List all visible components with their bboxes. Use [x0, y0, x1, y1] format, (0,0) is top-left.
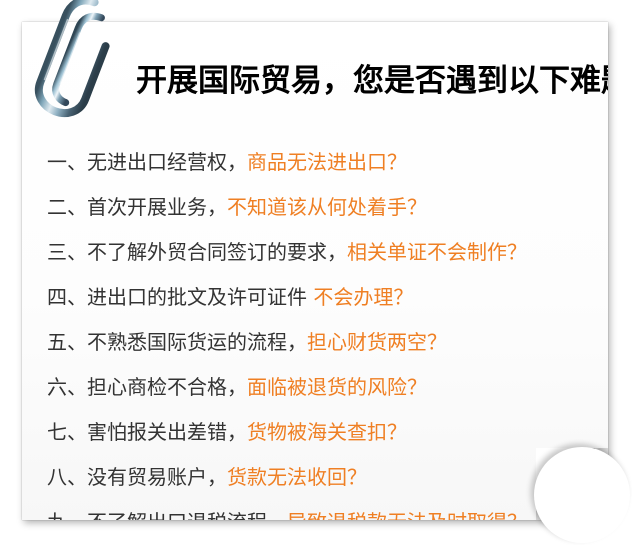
page-title: 开展国际贸易，您是否遇到以下难题: [136, 66, 608, 97]
list-item-index: 七、: [47, 420, 87, 444]
list-item-highlight-text: 担心财货两空？: [307, 330, 447, 354]
list-item-separator: ，: [207, 465, 227, 489]
list-item-separator: ，: [287, 330, 307, 354]
list-item: 二、首次开展业务，不知道该从何处着手？: [47, 185, 607, 230]
list-item-highlight-text: 货物被海关查扣？: [247, 420, 407, 444]
list-item: 五、不熟悉国际货运的流程，担心财货两空？: [47, 320, 607, 365]
list-item-highlight-text: 相关单证不会制作？: [347, 240, 527, 264]
list-item-highlight-text: 不知道该从何处着手？: [227, 195, 427, 219]
list-item-highlight-text: 面临被退货的风险？: [247, 375, 427, 399]
list-item-highlight-text: 导致退税款无法及时取得？: [287, 510, 527, 520]
list-item-index: 六、: [47, 375, 87, 399]
list-item-highlight-text: 商品无法进出口？: [247, 150, 407, 174]
list-item-index: 一、: [47, 150, 87, 174]
list-item-separator: ，: [327, 240, 347, 264]
content-card: 开展国际贸易，您是否遇到以下难题 一、无进出口经营权，商品无法进出口？二、首次开…: [22, 22, 608, 520]
list-item: 八、没有贸易账户，货款无法收回？: [47, 455, 607, 500]
list-item-separator: ，: [227, 375, 247, 399]
list-item-lead-text: 不了解出口退税流程: [87, 510, 267, 520]
list-item-index: 三、: [47, 240, 87, 264]
list-item-lead-text: 没有贸易账户: [87, 465, 207, 489]
list-item-lead-text: 无进出口经营权: [87, 150, 227, 174]
problem-list: 一、无进出口经营权，商品无法进出口？二、首次开展业务，不知道该从何处着手？三、不…: [47, 140, 607, 520]
list-item-lead-text: 进出口的批文及许可证件: [87, 285, 307, 309]
list-item-lead-text: 不熟悉国际货运的流程: [87, 330, 287, 354]
list-item-separator: ，: [207, 195, 227, 219]
list-item-index: 九、: [47, 510, 87, 520]
list-item: 七、害怕报关出差错，货物被海关查扣？: [47, 410, 607, 455]
list-item: 九、不了解出口退税流程，导致退税款无法及时取得？: [47, 500, 607, 520]
list-item-separator: ，: [227, 150, 247, 174]
list-item-separator: ，: [267, 510, 287, 520]
list-item: 一、无进出口经营权，商品无法进出口？: [47, 140, 607, 185]
list-item-index: 二、: [47, 195, 87, 219]
list-item-index: 八、: [47, 465, 87, 489]
list-item-lead-text: 害怕报关出差错: [87, 420, 227, 444]
list-item-index: 四、: [47, 285, 87, 309]
list-item-lead-text: 不了解外贸合同签订的要求: [87, 240, 327, 264]
list-item: 四、进出口的批文及许可证件 不会办理？: [47, 275, 607, 320]
list-item-index: 五、: [47, 330, 87, 354]
list-item-lead-text: 担心商检不合格: [87, 375, 227, 399]
list-item-lead-text: 首次开展业务: [87, 195, 207, 219]
list-item-separator: ，: [227, 420, 247, 444]
list-item: 六、担心商检不合格，面临被退货的风险？: [47, 365, 607, 410]
list-item: 三、不了解外贸合同签订的要求，相关单证不会制作？: [47, 230, 607, 275]
list-item-highlight-text: 货款无法收回？: [227, 465, 367, 489]
list-item-highlight-text: 不会办理？: [313, 285, 413, 309]
poster-stage: 开展国际贸易，您是否遇到以下难题 一、无进出口经营权，商品无法进出口？二、首次开…: [0, 0, 632, 545]
